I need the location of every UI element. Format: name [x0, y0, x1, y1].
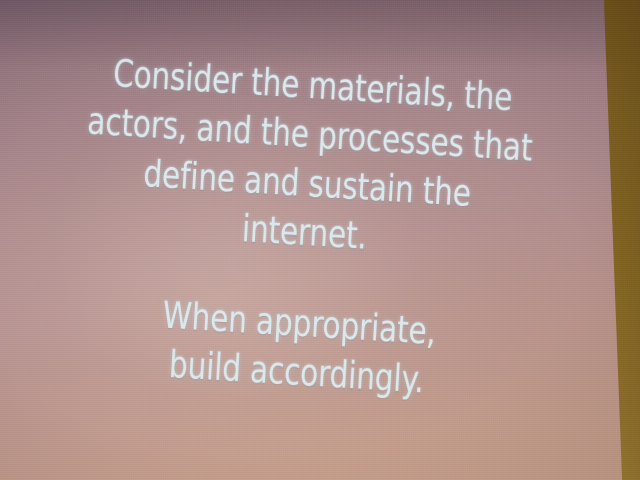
slide-paragraph-2: When appropriate, build accordingly.	[0, 280, 605, 415]
slide-content: Consider the materials, the actors, and …	[0, 0, 622, 480]
slide-paragraph-1: Consider the materials, the actors, and …	[0, 43, 619, 276]
projection-screen: Consider the materials, the actors, and …	[0, 0, 640, 480]
photograph-frame: Consider the materials, the actors, and …	[0, 0, 640, 480]
